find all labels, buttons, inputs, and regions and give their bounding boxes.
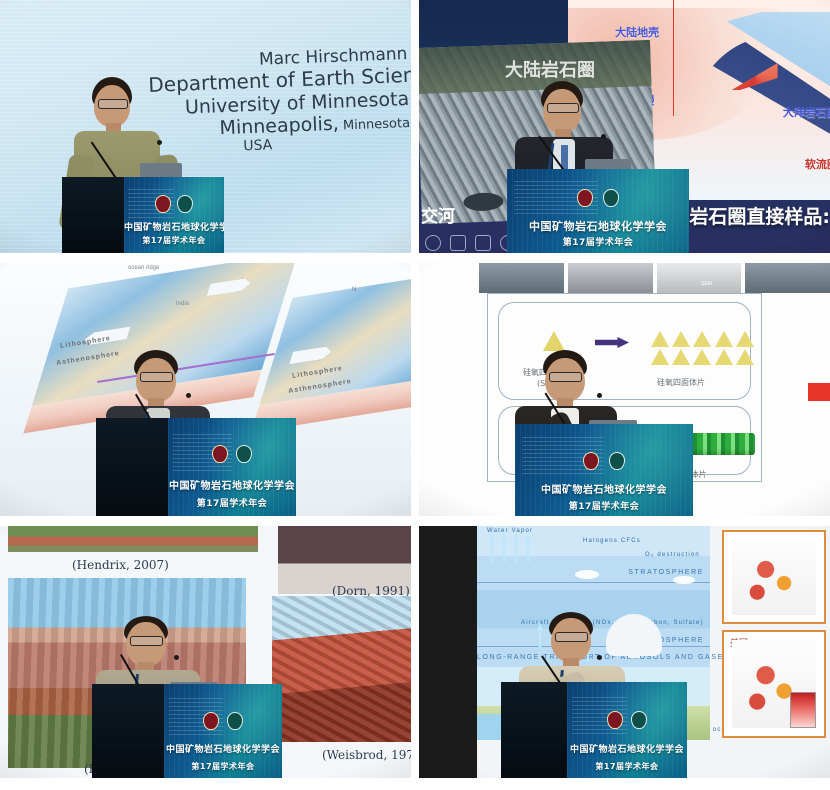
- vertical-transport-arrow: [513, 532, 519, 562]
- rift-axis-line: [673, 0, 675, 116]
- podium-sign: 中国矿物岩石地球化学学会 第17届学术年会: [567, 682, 687, 778]
- society-emblem-red-icon: [583, 452, 599, 470]
- society-emblem-green-icon: [609, 452, 625, 470]
- photo-grid-figure: Marc Hirschmann Department of Earth Scie…: [0, 0, 830, 790]
- podium-body: [501, 682, 571, 778]
- glasses-icon: [547, 103, 579, 113]
- cloud-icon: [575, 570, 599, 579]
- label-o3-destruction: O₃ destruction: [645, 552, 700, 558]
- podium-sign: 中国矿物岩石地球化学学会 第17届学术年会: [124, 177, 224, 253]
- microphone-head: [597, 655, 602, 660]
- map-legend: [790, 692, 816, 728]
- slide-photo-redrock: [272, 596, 411, 742]
- map-figure-bottom: 美国: [722, 630, 826, 738]
- slide-photo-top-left: [8, 526, 258, 552]
- panel-2-scene: 大陆地壳 岩石圈地幔 大洋岩石圈 软流圈 软流圈 大陆岩石圈 岩石圈直接样品: …: [419, 0, 830, 253]
- label-halogens-cfcs: Halogens CFCs: [583, 538, 641, 544]
- label-jiaohe: 交河: [421, 202, 455, 227]
- society-emblem-green-icon: [227, 712, 243, 730]
- citation-hendrix: (Hendrix, 2007): [72, 558, 169, 572]
- society-emblem-red-icon: [577, 189, 593, 207]
- vertical-transport-arrow: [501, 532, 507, 562]
- slide-line-4-small: Minnesota: [339, 116, 411, 134]
- podium-org-label: 中国矿物岩石地球化学学会: [168, 477, 296, 492]
- tetra-unit: [715, 331, 733, 347]
- society-emblem-red-icon: [212, 445, 228, 463]
- tetra-unit: [693, 331, 711, 347]
- podium-crests: [507, 189, 689, 207]
- sample-image-strip: [479, 263, 830, 293]
- tetra-unit: [715, 349, 733, 365]
- sample-photo-2: [568, 263, 653, 293]
- podium-body: [62, 177, 128, 253]
- podium-event-label: 第17届学术年会: [567, 761, 687, 772]
- label-north-arrow: N: [352, 287, 356, 293]
- panel-grid: Marc Hirschmann Department of Earth Scie…: [0, 0, 830, 790]
- tetra-unit: [672, 349, 690, 365]
- podium-crests: [124, 195, 224, 213]
- society-emblem-green-icon: [177, 195, 193, 213]
- slide-headline: 岩石圈直接样品:: [689, 202, 830, 229]
- podium: 中国矿物岩石地球化学学会 第17届学术年会: [62, 177, 224, 253]
- tetra-unit: [736, 331, 754, 347]
- podium-org-label: 中国矿物岩石地球化学学会: [507, 218, 689, 234]
- microphone-head: [157, 140, 162, 145]
- slide-line-4-main: Minneapolis,: [219, 113, 339, 140]
- square-tool-icon: [475, 235, 491, 251]
- label-water-vapor: Water Vapor: [487, 528, 533, 534]
- photo-panel-4: SEM 硅氧四面体 (Si-O): [419, 263, 830, 516]
- microphone-head: [186, 393, 191, 398]
- society-emblem-red-icon: [607, 711, 623, 729]
- label-ocean-ridge: ocean ridge: [128, 265, 159, 271]
- panel-3-scene: ocean ridge Lithosphere Asthenosphere In…: [0, 263, 411, 516]
- tetra-unit: [651, 331, 669, 347]
- cloud-icon: [673, 576, 695, 584]
- podium: 中国矿物岩石地球化学学会 第17届学术年会: [507, 169, 689, 253]
- slide-tool-icons: [425, 235, 516, 251]
- tetra-unit: [736, 349, 754, 365]
- label-stratosphere: STRATOSPHERE: [628, 569, 704, 576]
- sample-photo-1: [479, 263, 564, 293]
- label-asthenosphere-right: 软流圈: [805, 156, 830, 172]
- photo-panel-3: ocean ridge Lithosphere Asthenosphere In…: [0, 263, 411, 516]
- panel-5-scene: (Hendrix, 2007) (Dorn, 1991) (Weisbrod, …: [0, 526, 411, 778]
- podium-crests: [567, 711, 687, 729]
- outcrop-boulder: [463, 193, 504, 212]
- glasses-icon: [549, 372, 582, 382]
- podium: 中国矿物岩石地球化学学会 第17届学术年会: [92, 684, 282, 778]
- label-sem: SEM: [701, 281, 712, 287]
- tetra-unit: [651, 349, 669, 365]
- pen-tool-icon: [450, 235, 466, 251]
- tetra-unit: [672, 331, 690, 347]
- podium-crests: [515, 452, 693, 470]
- sample-photo-3: [657, 263, 742, 293]
- tetra-unit: [693, 349, 711, 365]
- podium-body: [96, 418, 172, 516]
- photo-panel-5: (Hendrix, 2007) (Dorn, 1991) (Weisbrod, …: [0, 526, 411, 778]
- vertical-transport-arrow: [525, 532, 531, 562]
- glasses-icon: [140, 372, 173, 382]
- circle-tool-icon: [425, 235, 441, 251]
- podium-event-label: 第17届学术年会: [507, 235, 689, 248]
- citation-weisbrod: (Weisbrod, 197: [322, 748, 411, 762]
- podium: 中国矿物岩石地球化学学会 第17届学术年会: [515, 424, 693, 516]
- microphone-head: [601, 134, 606, 139]
- glasses-icon: [130, 636, 163, 646]
- podium-crests: [164, 712, 282, 730]
- photo-panel-1: Marc Hirschmann Department of Earth Scie…: [0, 0, 411, 253]
- podium-org-label: 中国矿物岩石地球化学学会: [515, 481, 693, 496]
- red-marker-tab: [808, 383, 830, 401]
- podium-sign: 中国矿物岩石地球化学学会 第17届学术年会: [507, 169, 689, 253]
- society-emblem-red-icon: [155, 195, 171, 213]
- podium-event-label: 第17届学术年会: [168, 496, 296, 509]
- panel-4-scene: SEM 硅氧四面体 (Si-O): [419, 263, 830, 516]
- podium-sign: 中国矿物岩石地球化学学会 第17届学术年会: [168, 418, 296, 516]
- label-oceanic-lithosphere: 大洋岩石圈: [783, 104, 830, 120]
- title-slide-text: Marc Hirschmann Department of Earth Scie…: [147, 44, 411, 159]
- photo-panel-2: 大陆地壳 岩石圈地幔 大洋岩石圈 软流圈 软流圈 大陆岩石圈 岩石圈直接样品: …: [419, 0, 830, 253]
- society-emblem-green-icon: [631, 711, 647, 729]
- caption-tetrahedral-sheet: 硅氧四面体片: [657, 377, 705, 388]
- vertical-transport-arrow: [489, 532, 495, 562]
- side-figure-panel: 美国: [718, 530, 830, 738]
- label-india: India: [176, 301, 189, 307]
- map-graphic: [732, 539, 816, 615]
- glasses-icon: [555, 632, 588, 642]
- map-figure-top: [722, 530, 826, 624]
- podium: 中国矿物岩石地球化学学会 第17届学术年会: [501, 682, 687, 778]
- podium-body: [92, 684, 168, 778]
- tetrahedral-sheet-icon: [651, 331, 755, 365]
- podium-crests: [168, 445, 296, 463]
- photo-panel-6: Water Vapor Halogens CFCs O₃ destruction…: [419, 526, 830, 778]
- panel-1-scene: Marc Hirschmann Department of Earth Scie…: [0, 0, 411, 253]
- podium-event-label: 第17届学术年会: [515, 499, 693, 512]
- podium-sign: 中国矿物岩石地球化学学会 第17届学术年会: [515, 424, 693, 516]
- panel-6-scene: Water Vapor Halogens CFCs O₃ destruction…: [419, 526, 830, 778]
- podium-event-label: 第17届学术年会: [124, 235, 224, 246]
- society-emblem-green-icon: [603, 189, 619, 207]
- microphone-head: [597, 393, 602, 398]
- podium-org-label: 中国矿物岩石地球化学学会: [124, 220, 224, 233]
- dark-wall: [419, 526, 477, 778]
- podium-org-label: 中国矿物岩石地球化学学会: [164, 742, 282, 755]
- glasses-icon: [98, 99, 128, 109]
- podium-sign: 中国矿物岩石地球化学学会 第17届学术年会: [164, 684, 282, 778]
- podium: 中国矿物岩石地球化学学会 第17届学术年会: [96, 418, 296, 516]
- society-emblem-red-icon: [203, 712, 219, 730]
- microphone-head: [174, 655, 179, 660]
- sample-photo-4: [745, 263, 830, 293]
- podium-event-label: 第17届学术年会: [164, 761, 282, 772]
- label-continental-crust: 大陆地壳: [615, 24, 659, 40]
- society-emblem-green-icon: [236, 445, 252, 463]
- podium-org-label: 中国矿物岩石地球化学学会: [567, 742, 687, 755]
